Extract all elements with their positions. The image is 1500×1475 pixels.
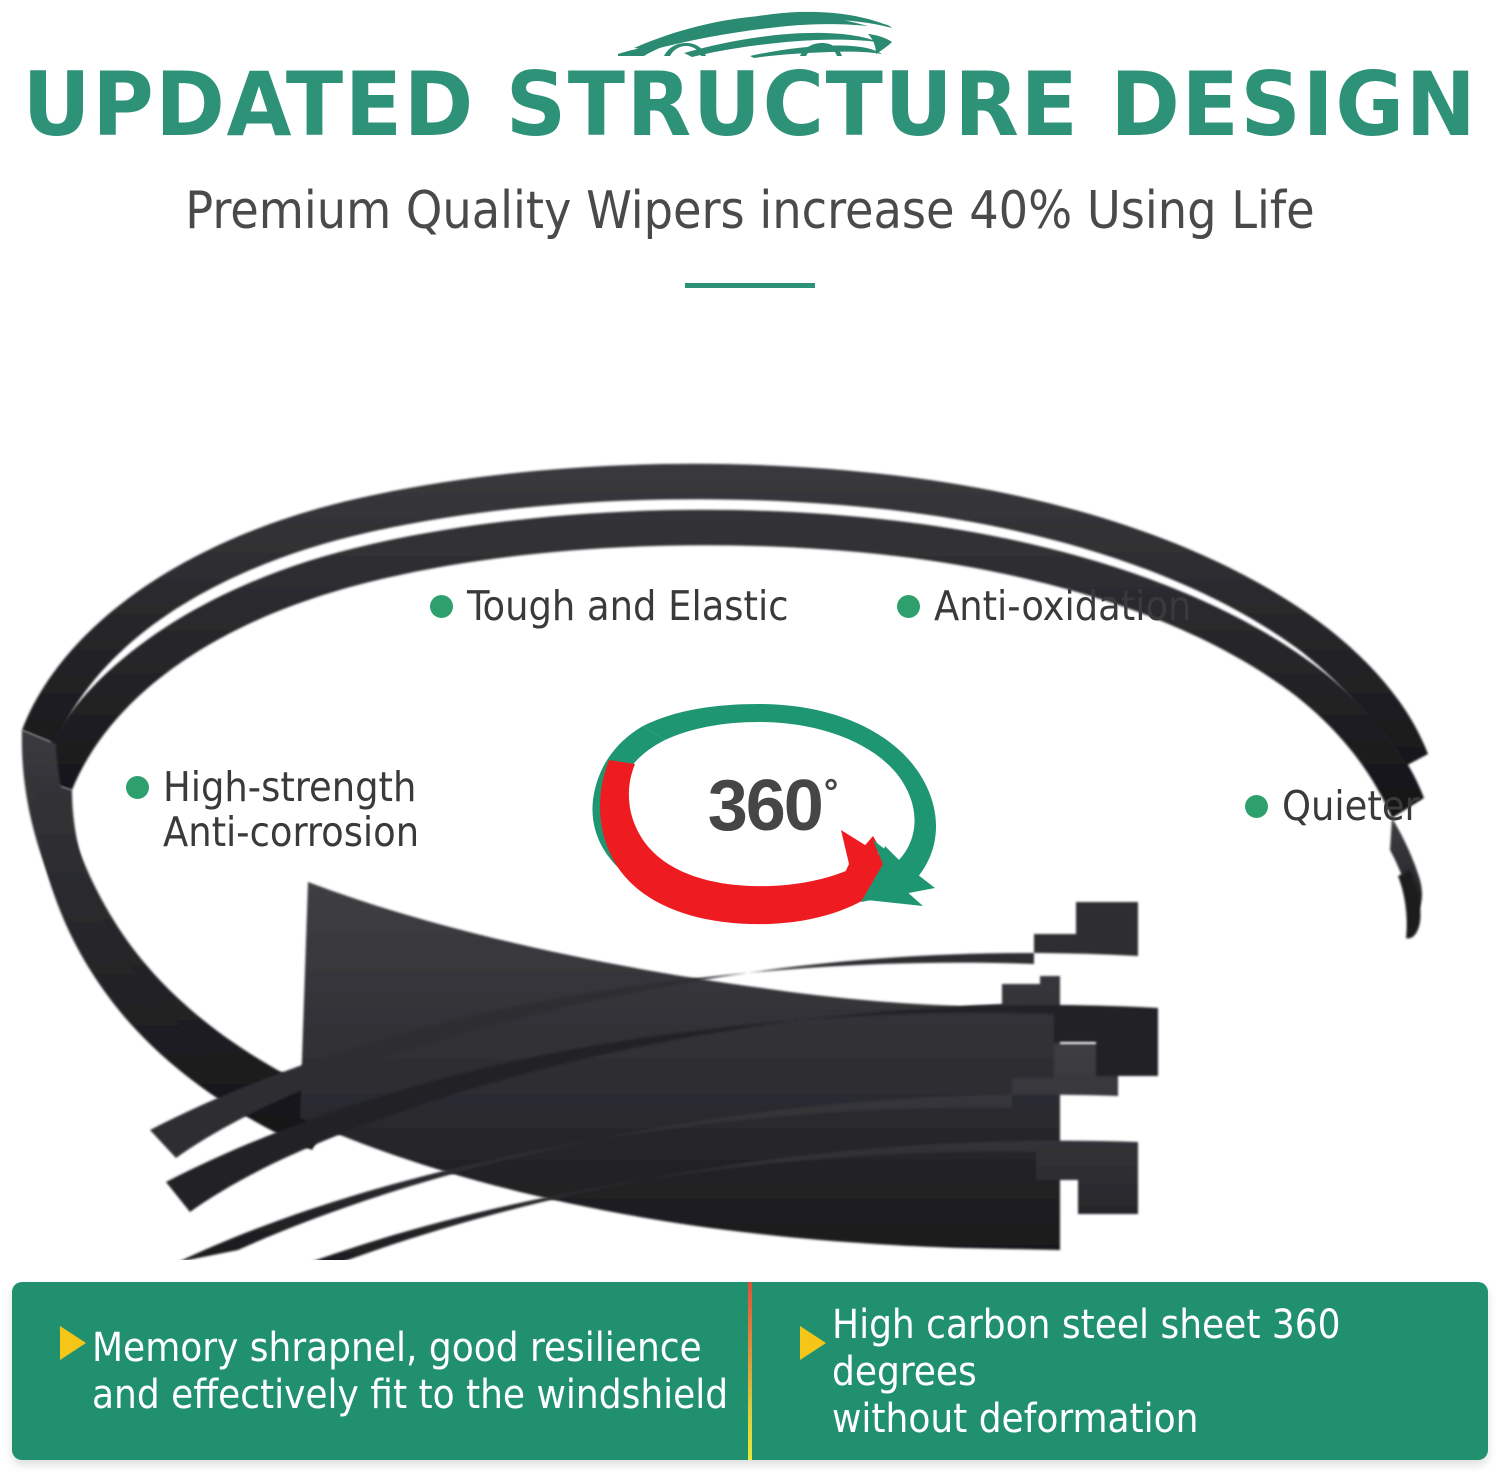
- feature-label: Quieter: [1282, 784, 1420, 829]
- feature-label: Anti-oxidation: [934, 584, 1191, 629]
- bullet-dot-icon: [1245, 795, 1268, 818]
- banner-memory-shrapnel: Memory shrapnel, good resilience and eff…: [12, 1282, 748, 1460]
- feature-label: Tough and Elastic: [467, 584, 789, 629]
- feature-high-strength-anti-corrosion: High-strength Anti-corrosion: [126, 765, 419, 855]
- bullet-dot-icon: [430, 595, 453, 618]
- triangle-right-icon: [60, 1326, 86, 1360]
- banner-text: High carbon steel sheet 360 degrees with…: [832, 1300, 1488, 1443]
- feature-label: High-strength Anti-corrosion: [163, 765, 419, 855]
- product-infographic-page: UPDATED STRUCTURE DESIGN Premium Quality…: [0, 0, 1500, 1475]
- triangle-right-icon: [800, 1326, 826, 1360]
- banner-high-carbon-steel: High carbon steel sheet 360 degrees with…: [752, 1282, 1488, 1460]
- banner-text: Memory shrapnel, good resilience and eff…: [92, 1323, 728, 1419]
- accent-divider: [685, 283, 815, 288]
- bullet-dot-icon: [126, 776, 149, 799]
- feature-anti-oxidation: Anti-oxidation: [897, 584, 1191, 629]
- page-title: UPDATED STRUCTURE DESIGN: [0, 63, 1500, 147]
- feature-tough-and-elastic: Tough and Elastic: [430, 584, 789, 629]
- bullet-dot-icon: [897, 595, 920, 618]
- feature-banner-row: Memory shrapnel, good resilience and eff…: [12, 1282, 1488, 1460]
- feature-quieter: Quieter: [1245, 784, 1420, 829]
- page-subtitle: Premium Quality Wipers increase 40% Usin…: [8, 182, 1493, 240]
- badge-value: 360: [708, 765, 822, 847]
- badge-360-degree: 360°: [573, 694, 955, 926]
- badge-360-label: 360°: [573, 694, 955, 926]
